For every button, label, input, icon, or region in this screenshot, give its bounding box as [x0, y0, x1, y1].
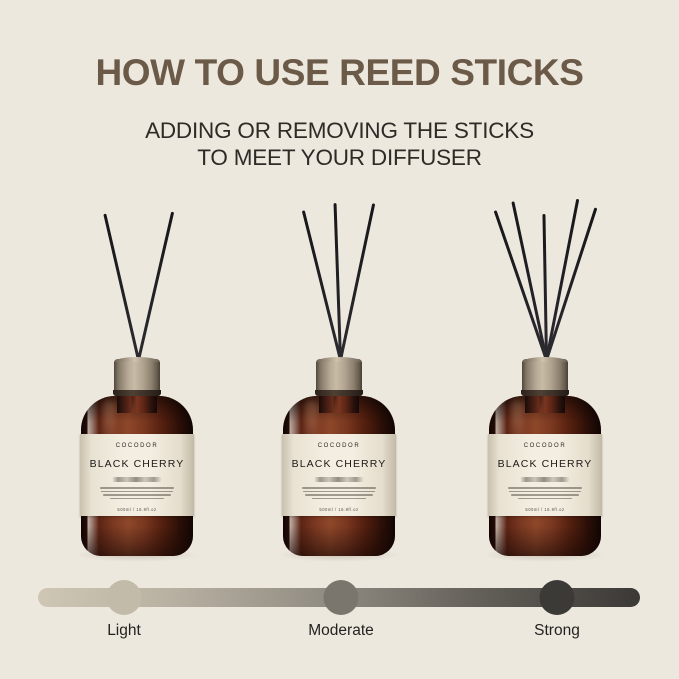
- slider-knob-light[interactable]: [107, 580, 142, 615]
- page-title: HOW TO USE REED STICKS: [0, 0, 679, 94]
- slider-label-moderate: Moderate: [308, 622, 373, 640]
- scent-name: BLACK CHERRY: [292, 458, 387, 470]
- bottle-label: COCODOR BLACK CHERRY 500ml / 16.9fl.oz: [282, 434, 396, 516]
- page-subtitle: ADDING OR REMOVING THE STICKS TO MEET YO…: [0, 94, 679, 172]
- bottle-label: COCODOR BLACK CHERRY 500ml / 16.9fl.oz: [488, 434, 602, 516]
- bottle-cap-top: [522, 357, 568, 362]
- bottle-cap: [114, 359, 160, 396]
- heading-block: HOW TO USE REED STICKS ADDING OR REMOVIN…: [0, 0, 679, 172]
- subtitle-line-2: TO MEET YOUR DIFFUSER: [197, 145, 482, 170]
- reed-stick-group-strong: [460, 190, 630, 360]
- reed-stick: [103, 214, 140, 361]
- bottle-cap: [522, 359, 568, 396]
- reed-stick: [137, 212, 174, 361]
- diffuser-bottle-row: COCODOR BLACK CHERRY 500ml / 16.9fl.oz: [0, 196, 679, 556]
- bottle-cap-top: [114, 357, 160, 362]
- diffuser-bottle-moderate: COCODOR BLACK CHERRY 500ml / 16.9fl.oz: [254, 196, 424, 556]
- subtitle-line-1: ADDING OR REMOVING THE STICKS: [145, 118, 534, 143]
- diffuser-bottle-light: COCODOR BLACK CHERRY 500ml / 16.9fl.oz: [52, 196, 222, 556]
- bottle-body: COCODOR BLACK CHERRY 500ml / 16.9fl.oz: [81, 396, 193, 556]
- label-fineprint: [508, 487, 582, 499]
- label-script-tagline: [112, 477, 162, 482]
- diffuser-bottle-strong: COCODOR BLACK CHERRY 500ml / 16.9fl.oz: [460, 196, 630, 556]
- bottle-body: COCODOR BLACK CHERRY 500ml / 16.9fl.oz: [489, 396, 601, 556]
- reed-stick: [339, 203, 375, 360]
- bottle-cap-top: [316, 357, 362, 362]
- volume-text: 500ml / 16.9fl.oz: [117, 507, 156, 512]
- scent-name: BLACK CHERRY: [90, 458, 185, 470]
- label-script-tagline: [314, 477, 364, 482]
- volume-text: 500ml / 16.9fl.oz: [319, 507, 358, 512]
- bottle-cap-base: [315, 390, 363, 396]
- slider-label-row: Light Moderate Strong: [0, 622, 679, 646]
- volume-text: 500ml / 16.9fl.oz: [525, 507, 564, 512]
- label-script-tagline: [520, 477, 570, 482]
- label-fineprint: [302, 487, 376, 499]
- reed-stick-group-light: [52, 190, 222, 360]
- slider-label-strong: Strong: [534, 622, 580, 640]
- brand-name: COCODOR: [318, 443, 361, 449]
- brand-name: COCODOR: [116, 443, 159, 449]
- bottle-cap-base: [113, 390, 161, 396]
- reed-stick-group-moderate: [254, 190, 424, 360]
- bottle-cap-base: [521, 390, 569, 396]
- scent-name: BLACK CHERRY: [498, 458, 593, 470]
- slider-knob-strong[interactable]: [540, 580, 575, 615]
- intensity-slider[interactable]: Light Moderate Strong: [0, 576, 679, 646]
- brand-name: COCODOR: [524, 443, 567, 449]
- slider-label-light: Light: [107, 622, 141, 640]
- bottle-label: COCODOR BLACK CHERRY 500ml / 16.9fl.oz: [80, 434, 194, 516]
- slider-knob-moderate[interactable]: [324, 580, 359, 615]
- bottle-body: COCODOR BLACK CHERRY 500ml / 16.9fl.oz: [283, 396, 395, 556]
- bottle-cap: [316, 359, 362, 396]
- label-fineprint: [100, 487, 174, 499]
